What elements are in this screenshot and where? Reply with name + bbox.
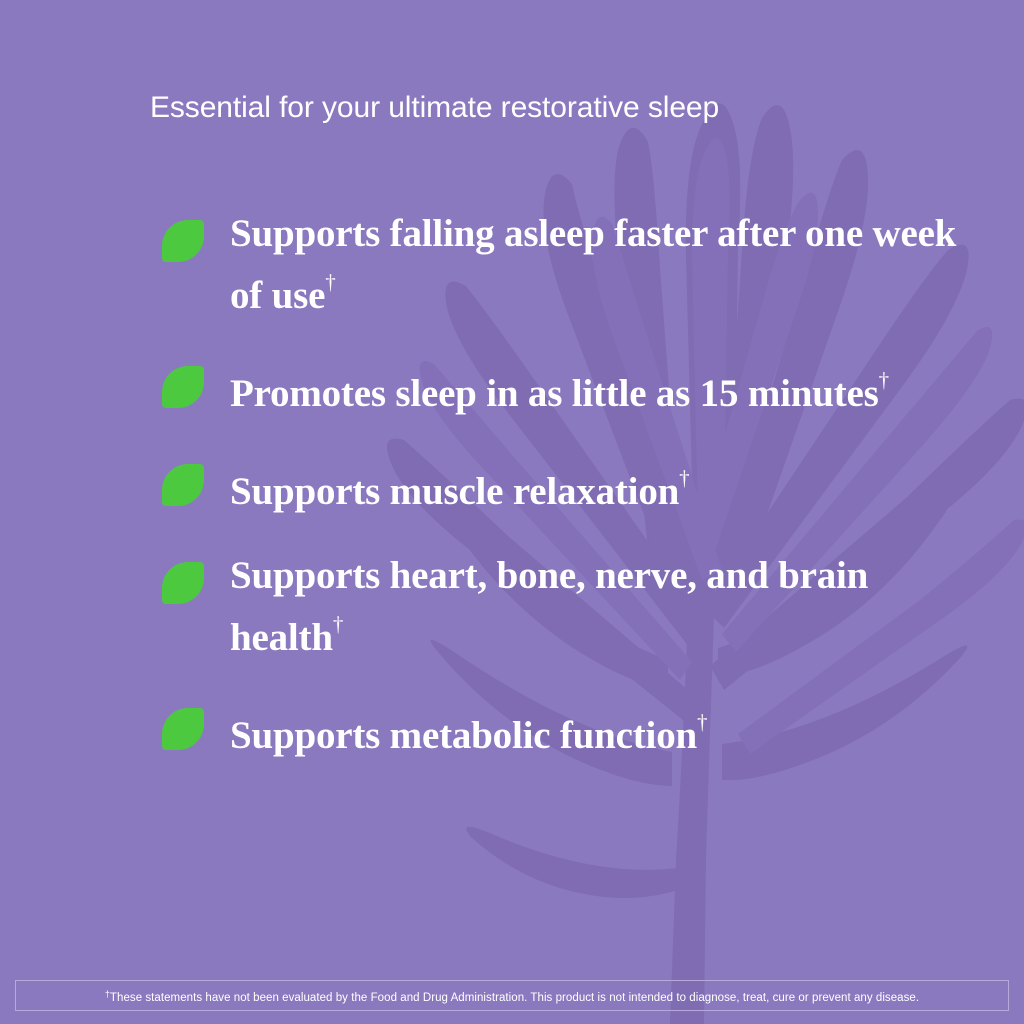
leaf-icon bbox=[162, 366, 204, 408]
benefit-text-2: Supports muscle relaxation bbox=[230, 470, 679, 513]
benefit-text-1: Promotes sleep in as little as 15 minute… bbox=[230, 372, 879, 415]
benefit-text-3: Supports heart, bone, nerve, and brain h… bbox=[230, 554, 868, 659]
benefit-text-0: Supports falling asleep faster after one… bbox=[230, 212, 956, 317]
list-item: Supports falling asleep faster after one… bbox=[160, 210, 970, 320]
benefit-label: Promotes sleep in as little as 15 minute… bbox=[230, 356, 970, 418]
benefit-label: Supports heart, bone, nerve, and brain h… bbox=[230, 552, 970, 662]
leaf-icon bbox=[162, 464, 204, 506]
benefits-card: Essential for your ultimate restorative … bbox=[0, 0, 1024, 1024]
leaf-icon bbox=[162, 708, 204, 750]
list-item: Supports muscle relaxation† bbox=[160, 454, 970, 516]
disclaimer-body: These statements have not been evaluated… bbox=[110, 992, 919, 1004]
card-content: Essential for your ultimate restorative … bbox=[0, 0, 1024, 1024]
benefit-label: Supports falling asleep faster after one… bbox=[230, 210, 970, 320]
disclaimer-box: †These statements have not been evaluate… bbox=[15, 980, 1009, 1011]
footnote-marker-1: † bbox=[879, 368, 890, 392]
benefit-text-4: Supports metabolic function bbox=[230, 714, 697, 757]
page-title: Essential for your ultimate restorative … bbox=[150, 88, 970, 128]
leaf-icon bbox=[162, 562, 204, 604]
list-item: Supports heart, bone, nerve, and brain h… bbox=[160, 552, 970, 662]
disclaimer-text: †These statements have not been evaluate… bbox=[105, 987, 919, 1005]
benefit-label: Supports metabolic function† bbox=[230, 698, 970, 760]
footnote-marker-3: † bbox=[333, 612, 344, 636]
benefits-list: Supports falling asleep faster after one… bbox=[160, 210, 970, 760]
benefit-label: Supports muscle relaxation† bbox=[230, 454, 970, 516]
footnote-marker-0: † bbox=[325, 270, 336, 294]
list-item: Supports metabolic function† bbox=[160, 698, 970, 760]
footnote-marker-2: † bbox=[679, 466, 690, 490]
footnote-marker-4: † bbox=[697, 710, 708, 734]
leaf-icon bbox=[162, 220, 204, 262]
list-item: Promotes sleep in as little as 15 minute… bbox=[160, 356, 970, 418]
